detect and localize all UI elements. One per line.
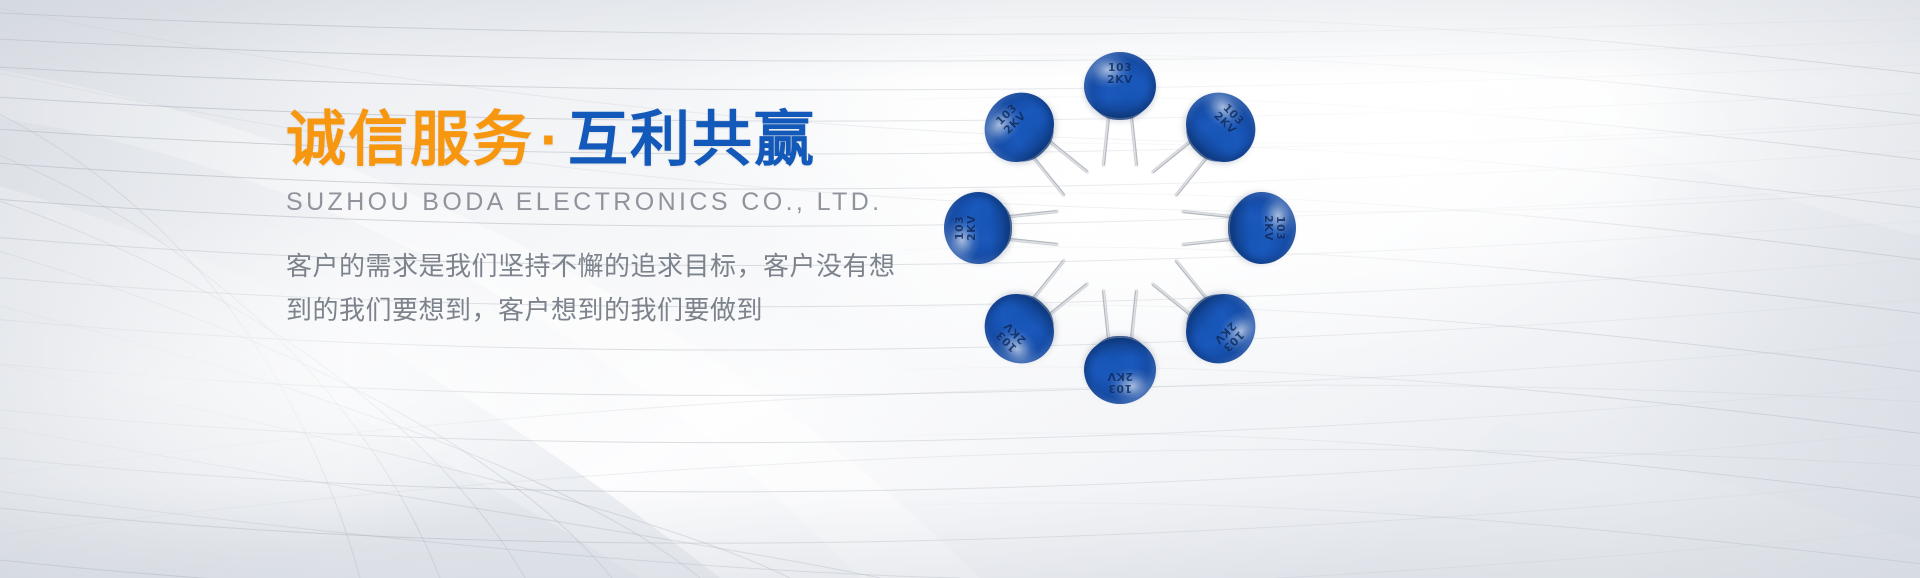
capacitor-disc: 103 2KV <box>1084 332 1156 404</box>
headline-separator-dot: · <box>534 106 568 173</box>
capacitor-voltage: 2KV <box>1084 369 1156 381</box>
capacitor-disc: 103 2KV <box>1224 192 1296 264</box>
capacitor-disc: 103 2KV <box>1168 276 1270 378</box>
capacitor-disc: 103 2KV <box>944 192 1016 264</box>
capacitor-skirt <box>1092 336 1148 358</box>
capacitor-marking: 103 2KV <box>1084 62 1156 87</box>
headline-part-blue: 互利共赢 <box>568 106 816 173</box>
headline-part-orange: 诚信服务 <box>286 106 534 173</box>
capacitor-voltage: 2KV <box>1084 74 1156 86</box>
banner-body-copy: 客户的需求是我们坚持不懈的追求目标，客户没有想 到的我们要想到，客户想到的我们要… <box>286 244 926 333</box>
banner-headline: 诚信服务·互利共赢 <box>286 108 966 172</box>
capacitor-marking: 103 2KV <box>954 192 979 264</box>
capacitor-skirt <box>1228 200 1250 256</box>
hero-banner: 诚信服务·互利共赢 SUZHOU BODA ELECTRONICS CO., L… <box>0 0 1920 578</box>
body-line-2: 到的我们要想到，客户想到的我们要做到 <box>286 288 926 333</box>
capacitor-marking: 103 2KV <box>1261 192 1286 264</box>
capacitor-disc: 103 2KV <box>970 276 1072 378</box>
capacitor-ring-image: 103 2KV 103 2KV 103 2KV <box>930 48 1310 408</box>
banner-subtitle-english: SUZHOU BODA ELECTRONICS CO., LTD. <box>286 188 966 217</box>
capacitor-skirt <box>990 200 1012 256</box>
banner-copy: 诚信服务·互利共赢 SUZHOU BODA ELECTRONICS CO., L… <box>286 108 966 333</box>
capacitor-disc: 103 2KV <box>1168 78 1270 180</box>
capacitor-voltage: 2KV <box>966 192 978 264</box>
body-line-1: 客户的需求是我们坚持不懈的追求目标，客户没有想 <box>286 244 926 289</box>
capacitor-marking: 103 2KV <box>1084 369 1156 394</box>
capacitor-disc: 103 2KV <box>970 78 1072 180</box>
capacitor-skirt <box>1092 98 1148 120</box>
capacitor-disc: 103 2KV <box>1084 52 1156 124</box>
capacitor-code: 103 <box>1274 192 1286 264</box>
capacitor-voltage: 2KV <box>1261 192 1273 264</box>
capacitor-code: 103 <box>1084 382 1156 394</box>
